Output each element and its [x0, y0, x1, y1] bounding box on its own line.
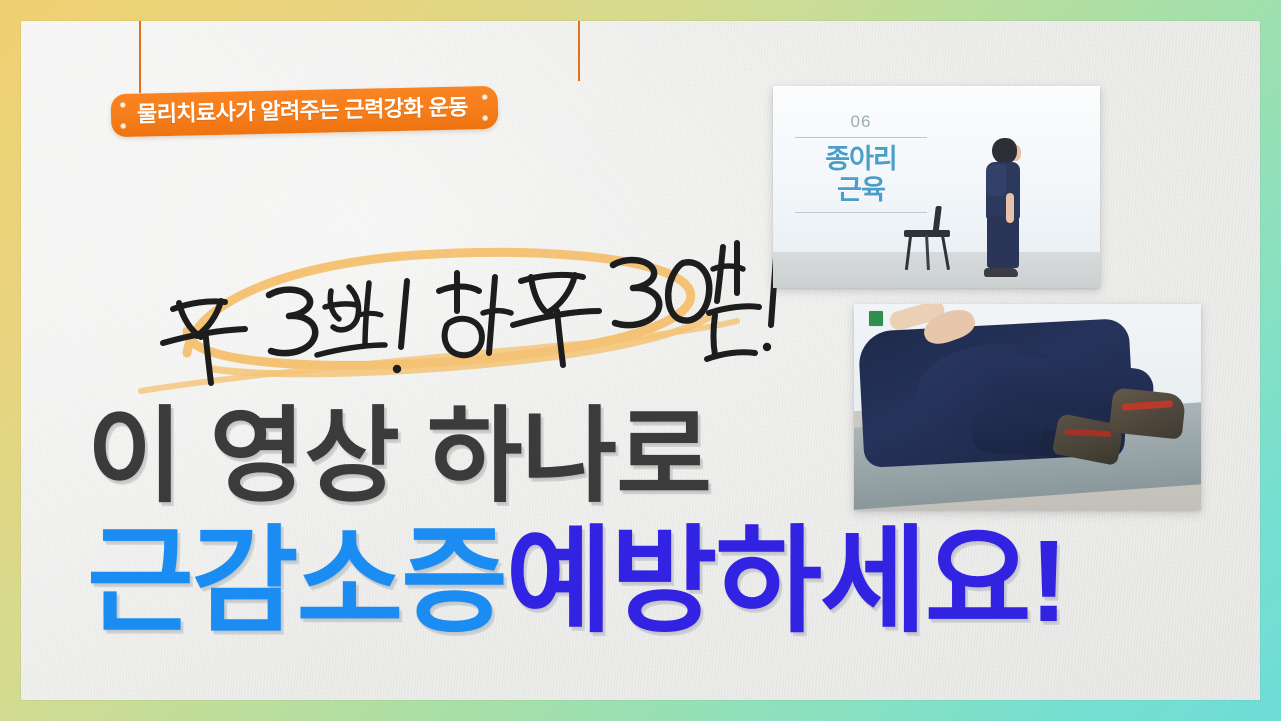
handwritten-note: [117, 203, 757, 393]
shoe-stripe: [1122, 400, 1173, 411]
chair-leg: [941, 235, 950, 270]
topic-badge-body: 물리치료사가 알려주는 근력강화 운동: [111, 86, 499, 138]
photo-caption-line-1: 종아리: [795, 144, 927, 175]
chair-leg: [925, 235, 930, 270]
person-shoe: [984, 268, 1018, 277]
photo-card-calf-exercise: 06 종아리 근육: [773, 86, 1100, 288]
rivet-icon: [482, 115, 488, 121]
headline-keyword-secondary: 예방하세요!: [506, 516, 1066, 646]
rivet-icon: [120, 123, 126, 129]
lying-person-shoe-right: [1109, 387, 1186, 440]
headline-line-2: 근감소증예방하세요!: [87, 523, 1066, 639]
uniform-patch: [868, 310, 884, 327]
badge-string-left: [139, 21, 141, 93]
caption-divider-top: [795, 137, 927, 138]
photo-caption-number: 06: [795, 112, 927, 135]
standing-person: [976, 138, 1038, 276]
badge-string-right: [578, 21, 580, 81]
person-legs: [987, 216, 1019, 268]
topic-badge-label: 물리치료사가 알려주는 근력강화 운동: [137, 95, 468, 125]
photo-top-scene: 06 종아리 근육: [773, 86, 1100, 288]
rivet-icon: [120, 102, 126, 108]
chair-leg: [905, 235, 912, 270]
photo-caption-group: 06 종아리 근육: [795, 112, 927, 213]
topic-badge: 물리치료사가 알려주는 근력강화 운동: [111, 86, 499, 138]
headline-keyword-primary: 근감소증: [87, 516, 506, 646]
rivet-icon: [481, 94, 487, 100]
photo-bottom-scene: [854, 304, 1201, 510]
person-arm: [1006, 193, 1014, 223]
thumbnail-canvas: 물리치료사가 알려주는 근력강화 운동: [0, 0, 1281, 721]
shoe-stripe: [1064, 429, 1112, 437]
paper-background: 물리치료사가 알려주는 근력강화 운동: [21, 21, 1260, 700]
folding-chair: [904, 206, 954, 270]
person-head: [992, 138, 1017, 164]
person-sleeve: [986, 164, 1006, 196]
photo-card-floor-stretch: [854, 304, 1201, 510]
photo-caption-line-2: 근육: [795, 175, 927, 206]
